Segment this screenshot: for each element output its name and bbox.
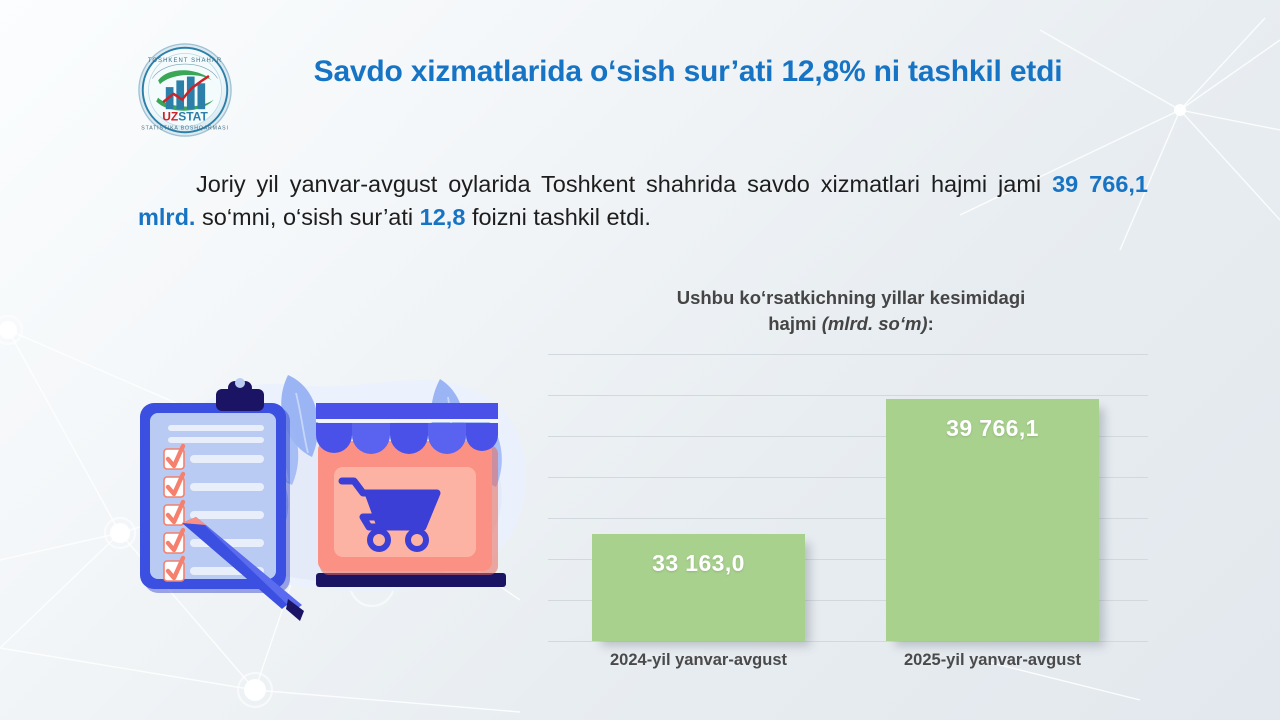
body-highlight-percent: 12,8 (420, 204, 466, 230)
category-label-2024: 2024-yil yanvar-avgust (572, 651, 825, 670)
category-label-2025: 2025-yil yanvar-avgust (866, 651, 1119, 670)
bar-2024: 33 163,0 (592, 534, 805, 641)
uzstat-logo: TOSHKENT SHAHAR STATISTIKA BOSHQARMASI U… (137, 42, 233, 138)
body-paragraph: Joriy yil yanvar-avgust oylarida Toshken… (138, 168, 1148, 235)
gridline (548, 395, 1148, 396)
body-text-middle: so‘mni, o‘sish sur’ati (195, 204, 419, 230)
gridline (548, 354, 1148, 355)
chart-subtitle-line2-plain: hajmi (768, 313, 821, 334)
trade-services-illustration (120, 345, 550, 630)
bar-value-2024: 33 163,0 (592, 550, 805, 577)
body-text-after: foizni tashkil etdi. (465, 204, 650, 230)
chart-subtitle-colon: : (928, 313, 934, 334)
gridline (548, 641, 1148, 642)
chart-subtitle-line1: Ushbu ko‘rsatkichning yillar kesimidagi (677, 287, 1026, 308)
svg-text:TOSHKENT SHAHAR: TOSHKENT SHAHAR (148, 58, 222, 64)
body-text-before: Joriy yil yanvar-avgust oylarida Toshken… (196, 171, 1052, 197)
infographic-canvas: TOSHKENT SHAHAR STATISTIKA BOSHQARMASI U… (0, 0, 1280, 720)
chart-subtitle-units: (mlrd. so‘m) (822, 313, 928, 334)
svg-text:UZSTAT: UZSTAT (162, 110, 208, 124)
svg-text:STATISTIKA BOSHQARMASI: STATISTIKA BOSHQARMASI (141, 125, 229, 131)
bar-2025: 39 766,1 (886, 399, 1099, 641)
bar-value-2025: 39 766,1 (886, 415, 1099, 442)
chart-subtitle: Ushbu ko‘rsatkichning yillar kesimidagi … (568, 285, 1134, 338)
page-title: Savdo xizmatlarida o‘sish sur’ati 12,8% … (268, 52, 1108, 91)
bar-chart: 33 163,0 39 766,1 2024-yil yanvar-avgust… (548, 352, 1148, 642)
